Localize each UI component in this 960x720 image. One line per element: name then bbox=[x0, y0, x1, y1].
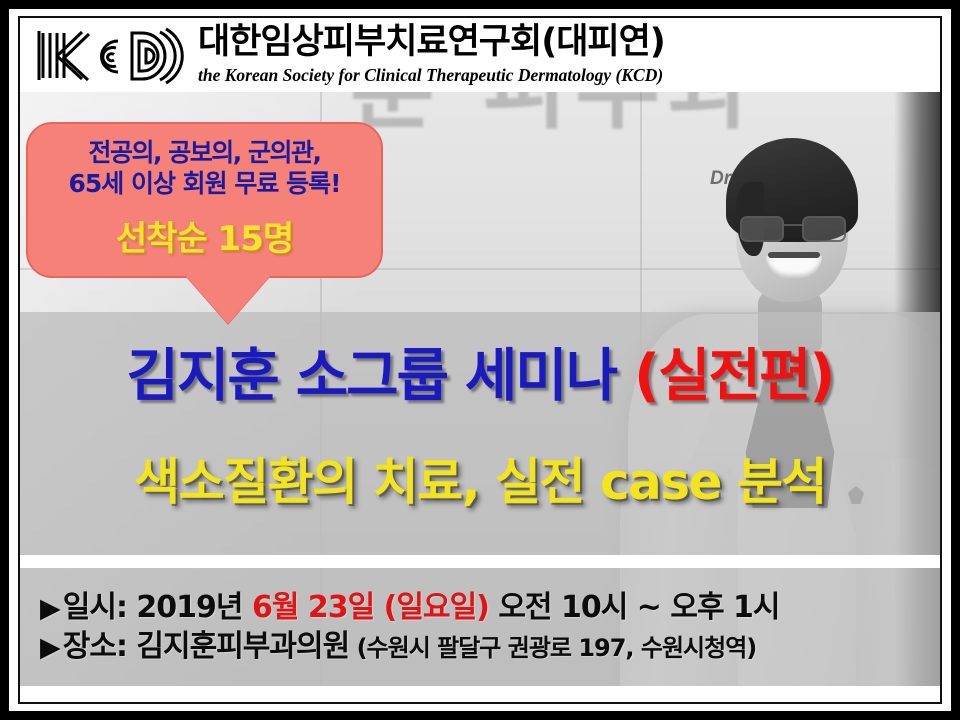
info-band: ▶일시: 2019년 6월 23일 (일요일) 오전 10시 ~ 오후 1시 ▶… bbox=[20, 568, 940, 686]
organization-name-korean: 대한임상피부치료연구회(대피연) bbox=[198, 25, 665, 60]
callout-capacity: 선착순 15명 bbox=[38, 211, 371, 260]
info-row-place: ▶장소: 김지훈피부과의원 (수원시 팔달구 권광로 197, 수원시청역) bbox=[40, 630, 940, 663]
seminar-title-red: (실전편) bbox=[634, 343, 833, 409]
poster-header: 대한임상피부치료연구회(대피연) the Korean Society for … bbox=[20, 18, 940, 92]
seminar-title: 김지훈 소그룹 세미나 (실전편) bbox=[20, 348, 940, 405]
organization-name-english: the Korean Society for Clinical Therapeu… bbox=[198, 67, 665, 85]
glasses-lens-left bbox=[740, 216, 784, 242]
place-label: 장소: 김지훈피부과의원 bbox=[63, 629, 349, 664]
glasses-lens-right bbox=[802, 216, 846, 242]
bullet-marker-icon: ▶ bbox=[40, 632, 61, 663]
seminar-poster: 훈 피부과 Dr Kim's Skin & bbox=[0, 0, 960, 720]
info-row-date: ▶일시: 2019년 6월 23일 (일요일) 오전 10시 ~ 오후 1시 bbox=[40, 591, 940, 624]
bullet-marker-icon: ▶ bbox=[40, 593, 61, 624]
callout-tail bbox=[186, 276, 270, 324]
callout-line-2: 65세 이상 회원 무료 등록! bbox=[38, 169, 371, 200]
date-time: 오전 10시 ~ 오후 1시 bbox=[489, 590, 780, 625]
seminar-title-blue: 김지훈 소그룹 세미나 bbox=[127, 343, 635, 409]
band-divider bbox=[20, 555, 940, 568]
registration-callout: 전공의, 공보의, 군의관, 65세 이상 회원 무료 등록! 선착순 15명 bbox=[26, 122, 383, 278]
callout-line-1: 전공의, 공보의, 군의관, bbox=[38, 138, 371, 169]
kcd-logo-icon bbox=[34, 25, 184, 87]
date-highlight: 6월 23일 (일요일) bbox=[252, 590, 489, 625]
doctor-glasses bbox=[740, 216, 846, 238]
bottom-white-strip bbox=[20, 686, 940, 702]
date-label: 일시: 2019년 bbox=[63, 590, 252, 625]
glasses-bridge bbox=[782, 224, 804, 226]
title-band: 김지훈 소그룹 세미나 (실전편) 색소질환의 치료, 실전 case 분석 bbox=[20, 312, 940, 555]
place-address: (수원시 팔달구 권광로 197, 수원시청역) bbox=[349, 634, 756, 662]
seminar-subtitle: 색소질환의 치료, 실전 case 분석 bbox=[20, 457, 940, 507]
callout-bubble: 전공의, 공보의, 군의관, 65세 이상 회원 무료 등록! 선착순 15명 bbox=[26, 122, 383, 278]
